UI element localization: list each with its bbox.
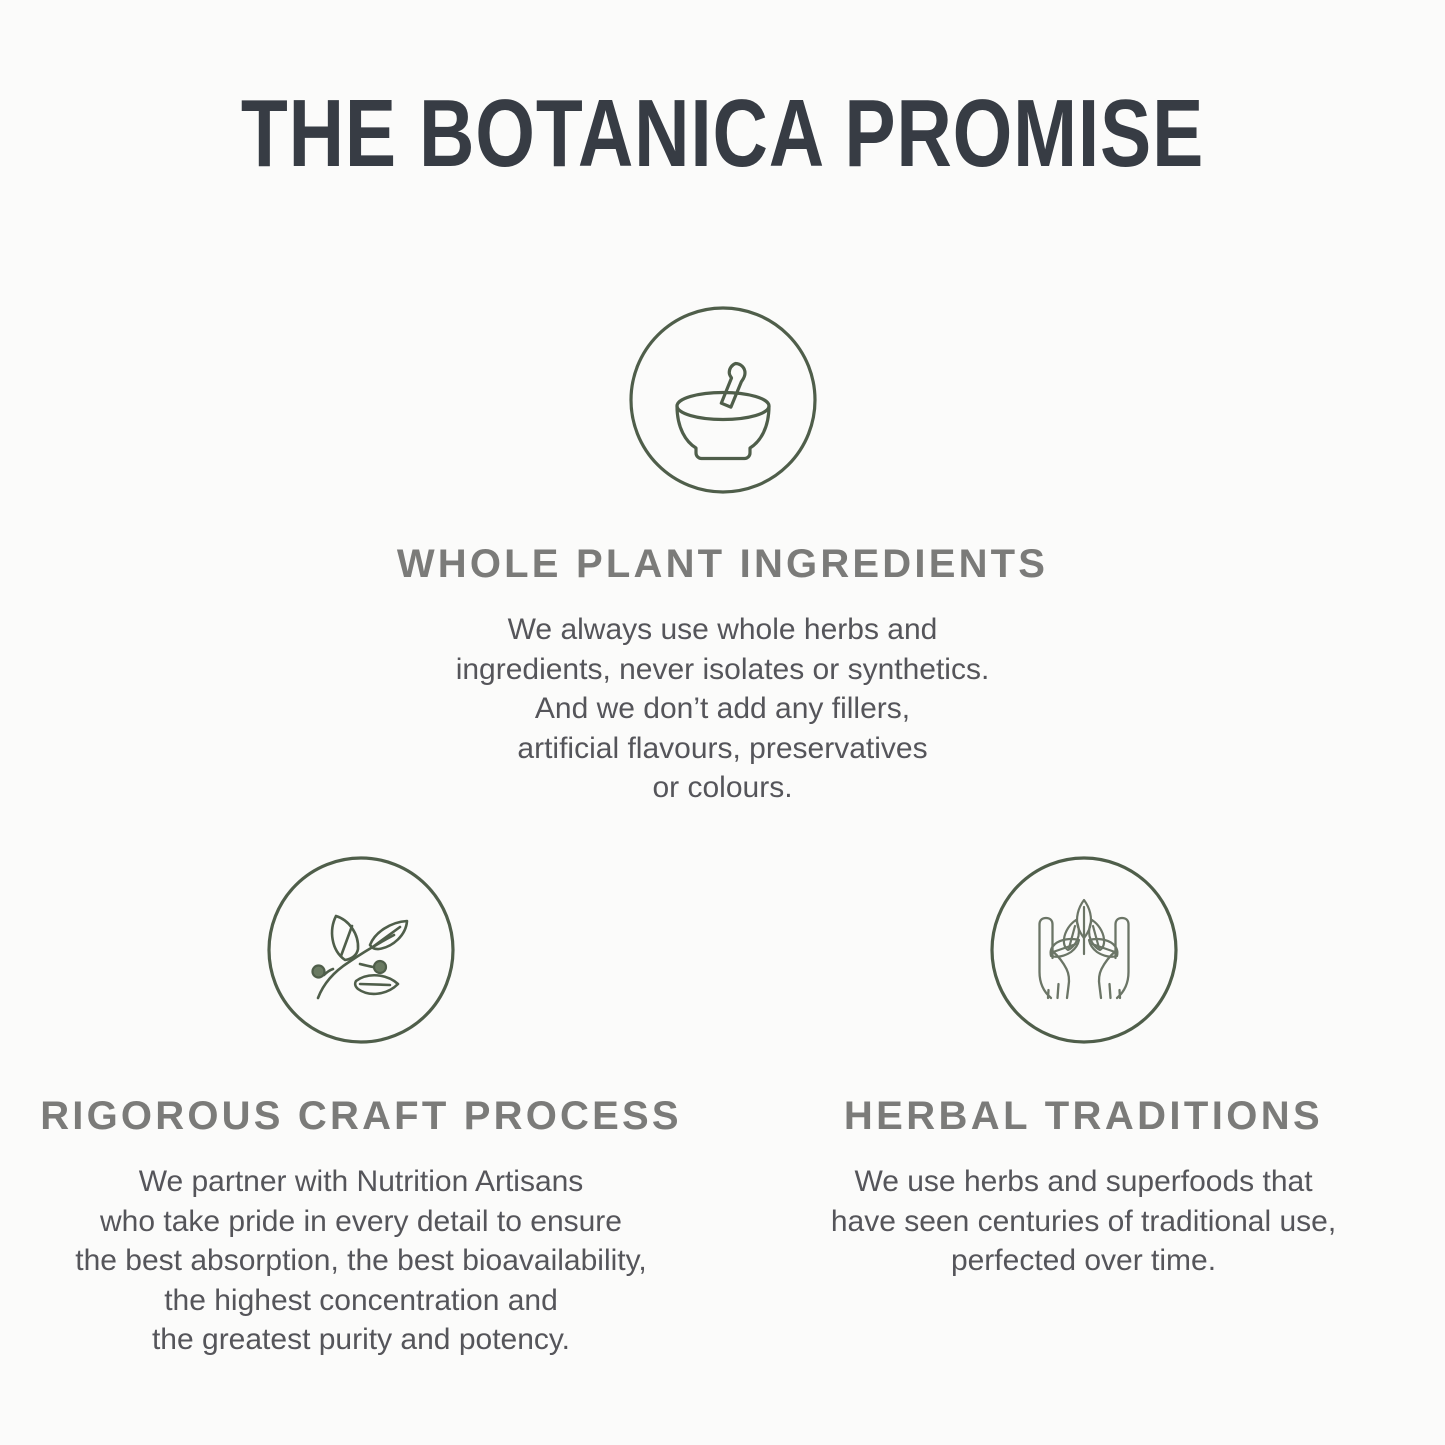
icon-container-whole-plant [0, 300, 1445, 500]
body-line: the greatest purity and potency. [0, 1320, 722, 1360]
body-line: artificial flavours, preservatives [0, 729, 1445, 769]
promise-heading-whole-plant-ingredients: WHOLE PLANT INGREDIENTS [0, 542, 1445, 586]
promise-card-herbal-traditions: HERBAL TRADITIONS We use herbs and super… [722, 850, 1445, 1281]
promise-body-whole-plant-ingredients: We always use whole herbs and ingredient… [0, 610, 1445, 808]
mortar-and-pestle-icon [623, 300, 823, 500]
botanica-promise-page: THE BOTANICA PROMISE WHOLE PLANT INGREDI… [0, 0, 1445, 1445]
body-line: have seen centuries of traditional use, [722, 1202, 1445, 1242]
promise-heading-herbal-traditions: HERBAL TRADITIONS [722, 1094, 1445, 1138]
hands-holding-plant-icon [984, 850, 1184, 1050]
herb-sprig-icon [261, 850, 461, 1050]
body-line: the highest concentration and [0, 1281, 722, 1321]
body-line: We use herbs and superfoods that [722, 1162, 1445, 1202]
body-line: the best absorption, the best bioavailab… [0, 1241, 722, 1281]
body-line: who take pride in every detail to ensure [0, 1202, 722, 1242]
body-line: We always use whole herbs and [0, 610, 1445, 650]
body-line: We partner with Nutrition Artisans [0, 1162, 722, 1202]
body-line: or colours. [0, 768, 1445, 808]
body-line: And we don’t add any fillers, [0, 689, 1445, 729]
body-line: perfected over time. [722, 1241, 1445, 1281]
page-title: THE BOTANICA PROMISE [145, 86, 1301, 182]
promise-card-whole-plant-ingredients: WHOLE PLANT INGREDIENTS We always use wh… [0, 300, 1445, 808]
body-line: ingredients, never isolates or synthetic… [0, 650, 1445, 690]
promise-body-herbal-traditions: We use herbs and superfoods that have se… [722, 1162, 1445, 1281]
promise-heading-rigorous-craft-process: RIGOROUS CRAFT PROCESS [0, 1094, 722, 1138]
icon-container-herbal-traditions [722, 850, 1445, 1050]
promise-card-rigorous-craft-process: RIGOROUS CRAFT PROCESS We partner with N… [0, 850, 722, 1360]
icon-container-craft-process [0, 850, 722, 1050]
promise-body-rigorous-craft-process: We partner with Nutrition Artisans who t… [0, 1162, 722, 1360]
